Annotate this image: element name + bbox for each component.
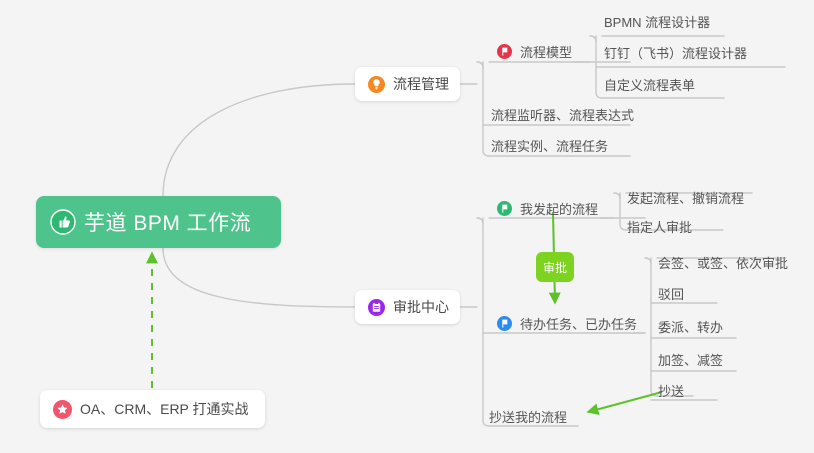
approval-badge: 审批 xyxy=(536,252,574,282)
subnode-todo-done-task[interactable]: 待办任务、已办任务 xyxy=(497,314,637,333)
link-todo-trunk-top xyxy=(645,258,651,264)
flag-red-icon xyxy=(497,44,512,59)
subnode-cc-my-process[interactable]: 抄送我的流程 xyxy=(489,407,567,426)
leaf-label: 加签、减签 xyxy=(658,350,723,369)
leaf-custom-form[interactable]: 自定义流程表单 xyxy=(604,75,695,94)
subnode-liucheng-moxing[interactable]: 流程模型 xyxy=(497,42,572,61)
subnode-label: 流程监听器、流程表达式 xyxy=(491,105,634,124)
link-shenpi-trunk-top xyxy=(477,218,483,224)
subnode-instance-task[interactable]: 流程实例、流程任务 xyxy=(491,136,608,155)
link-root-to-liucheng-guanli xyxy=(163,84,355,196)
leaf-label: 委派、转办 xyxy=(658,317,723,336)
branch-node-shenpi-zhongxin[interactable]: 审批中心 xyxy=(355,290,460,324)
clipboard-icon xyxy=(368,299,385,316)
leaf-reject[interactable]: 驳回 xyxy=(658,284,684,303)
subnode-label: 待办任务、已办任务 xyxy=(520,314,637,333)
leaf-assignee-approval[interactable]: 指定人审批 xyxy=(627,217,692,236)
bottom-note-node[interactable]: OA、CRM、ERP 打通实战 xyxy=(40,390,265,428)
leaf-label: 抄送 xyxy=(658,381,684,400)
link-root-to-shenpi-zhongxin xyxy=(163,248,355,307)
bottom-note-label: OA、CRM、ERP 打通实战 xyxy=(80,399,249,419)
leaf-add-remove-sign[interactable]: 加签、减签 xyxy=(658,350,723,369)
leaf-countersign[interactable]: 会签、或签、依次审批 xyxy=(658,253,788,272)
flag-green-icon xyxy=(497,201,512,216)
subnode-label: 流程模型 xyxy=(520,42,572,61)
star-icon xyxy=(53,400,72,419)
leaf-cc[interactable]: 抄送 xyxy=(658,381,684,400)
subnode-my-started-process[interactable]: 我发起的流程 xyxy=(497,199,598,218)
arrow-cc-to-ccmy xyxy=(588,392,662,412)
subnode-label: 我发起的流程 xyxy=(520,199,598,218)
leaf-label: 驳回 xyxy=(658,284,684,303)
mindmap-canvas: 芋道 BPM 工作流 流程管理 流程模型 BPMN 流程设计器 钉钉（飞书）流程… xyxy=(0,0,814,453)
leaf-label: BPMN 流程设计器 xyxy=(604,12,710,31)
link-moxing-trunk-top xyxy=(590,36,596,42)
branch-node-liucheng-guanli[interactable]: 流程管理 xyxy=(355,67,460,101)
link-my-started-trunk-top xyxy=(614,193,620,199)
leaf-label: 钉钉（飞书）流程设计器 xyxy=(604,43,747,62)
flag-blue-icon xyxy=(497,316,512,331)
leaf-label: 指定人审批 xyxy=(627,217,692,236)
approval-badge-label: 审批 xyxy=(543,259,567,276)
thumbs-up-icon xyxy=(50,209,76,235)
leaf-label: 会签、或签、依次审批 xyxy=(658,253,788,272)
subnode-label: 抄送我的流程 xyxy=(489,407,567,426)
leaf-dingding-feishu-designer[interactable]: 钉钉（飞书）流程设计器 xyxy=(604,43,747,62)
branch-label: 审批中心 xyxy=(393,297,449,317)
root-label: 芋道 BPM 工作流 xyxy=(84,207,251,237)
leaf-start-cancel-process[interactable]: 发起流程、撤销流程 xyxy=(627,188,744,207)
root-node[interactable]: 芋道 BPM 工作流 xyxy=(36,196,281,248)
lightbulb-icon xyxy=(368,76,385,93)
link-liucheng-guanli-trunk-top xyxy=(477,62,483,68)
branch-label: 流程管理 xyxy=(393,74,449,94)
leaf-label: 发起流程、撤销流程 xyxy=(627,188,744,207)
subnode-label: 流程实例、流程任务 xyxy=(491,136,608,155)
leaf-delegate-transfer[interactable]: 委派、转办 xyxy=(658,317,723,336)
leaf-bpmn-designer[interactable]: BPMN 流程设计器 xyxy=(604,12,710,31)
leaf-label: 自定义流程表单 xyxy=(604,75,695,94)
subnode-listener-expression[interactable]: 流程监听器、流程表达式 xyxy=(491,105,634,124)
